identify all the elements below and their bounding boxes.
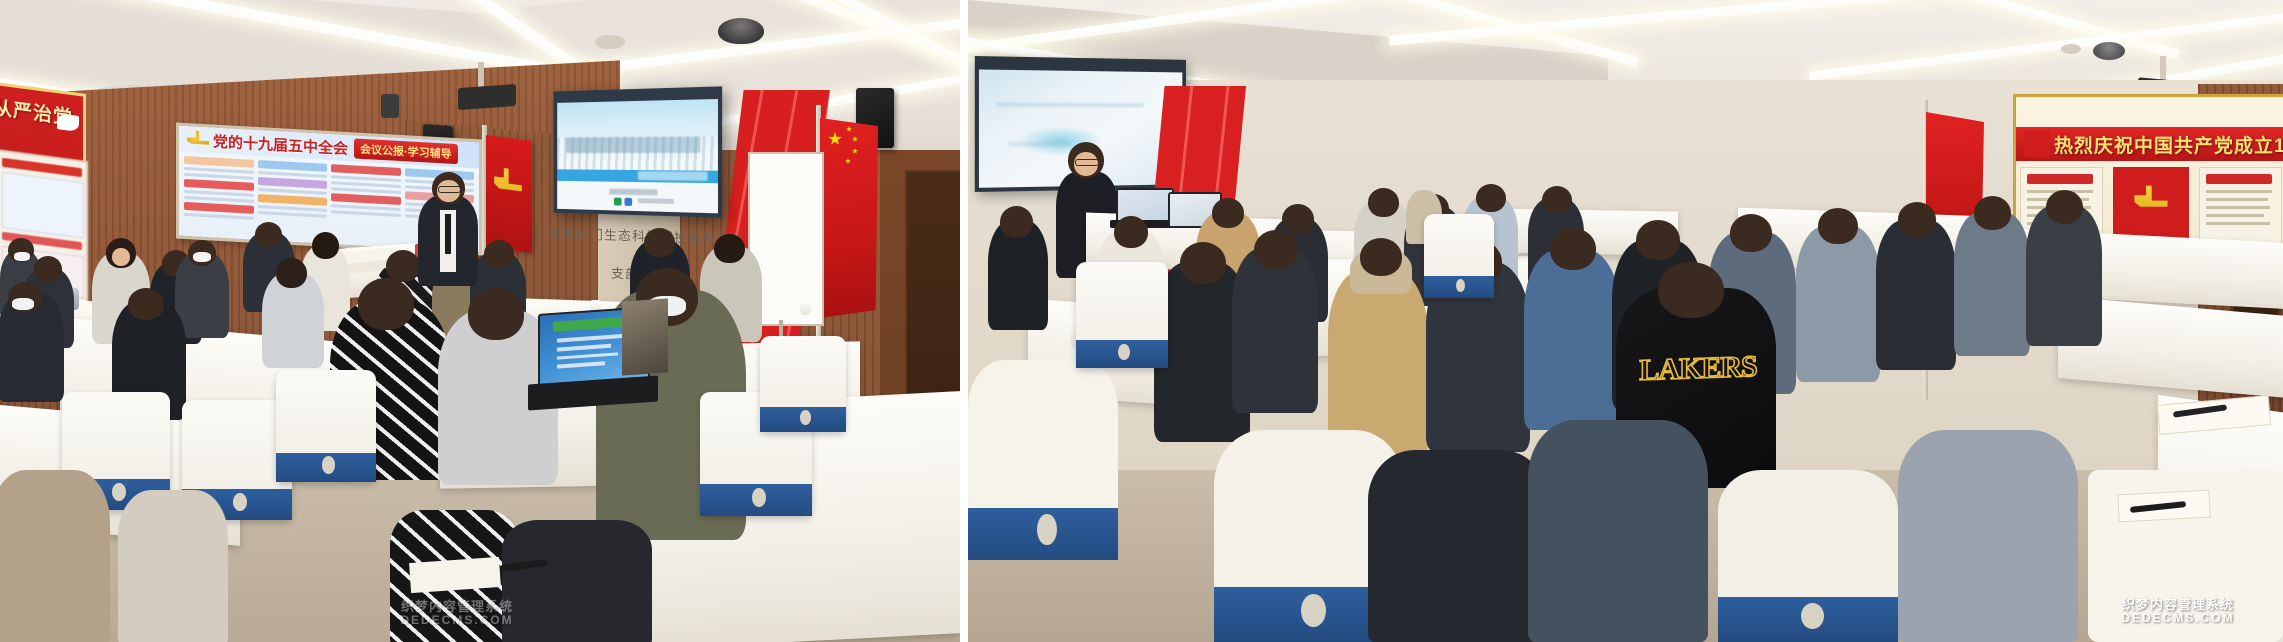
wall-banner-right-headline: 热烈庆祝中国共产党成立100周年	[2054, 131, 2283, 158]
party-emblem-icon	[187, 130, 209, 149]
slide-banner-bar	[557, 170, 718, 184]
person-head	[1974, 196, 2011, 230]
projection-screen	[554, 86, 722, 217]
chair[interactable]	[1424, 214, 1494, 298]
app-row	[557, 352, 617, 360]
wechat-icon	[614, 197, 622, 205]
camera-icon	[381, 94, 399, 118]
person	[0, 470, 110, 642]
chair[interactable]	[1718, 470, 1898, 642]
necktie	[445, 214, 451, 254]
person	[1232, 248, 1318, 413]
party-flag	[486, 135, 532, 253]
board-column	[184, 156, 254, 220]
left-photograph: 从严治党 党的十九届五中全会 会议公报·学习辅导	[0, 0, 960, 642]
face-mask	[12, 298, 34, 310]
chair[interactable]	[276, 370, 376, 482]
person-head	[1658, 262, 1724, 318]
person-head	[1636, 220, 1680, 260]
person-head	[358, 278, 414, 330]
dome-camera-icon	[718, 18, 764, 44]
person	[2026, 206, 2102, 346]
projector-icon	[458, 84, 516, 110]
person	[1954, 212, 2030, 356]
person-head	[2046, 190, 2083, 224]
star-icon	[828, 132, 842, 146]
chair-sash	[1076, 340, 1168, 368]
chair[interactable]	[1076, 262, 1168, 368]
person	[1876, 220, 1956, 370]
slide-subtitle-text	[638, 171, 708, 180]
person-head	[714, 234, 745, 263]
person-head	[1818, 208, 1858, 244]
board-column	[331, 164, 401, 228]
person-head	[1000, 206, 1033, 238]
cup	[800, 300, 811, 315]
banner-seal-icon	[2024, 131, 2050, 157]
chair-sash	[700, 484, 812, 516]
chair-sash	[760, 407, 846, 432]
person-face	[112, 248, 130, 266]
smoke-detector-icon	[2061, 44, 2081, 54]
app-row	[557, 362, 605, 369]
face-mask	[14, 252, 30, 261]
person-head	[1550, 228, 1596, 270]
person-head	[276, 258, 307, 288]
board-column	[258, 160, 328, 224]
poster-photo	[622, 298, 668, 375]
person	[502, 520, 652, 642]
projector-mount	[2160, 56, 2166, 82]
screenshot-root: 从严治党 党的十九届五中全会 会议公报·学习辅导	[0, 0, 2283, 642]
chair-sash	[276, 453, 376, 482]
person-head	[312, 232, 339, 259]
person-head	[1114, 216, 1148, 248]
person	[118, 490, 228, 642]
person-head	[1730, 214, 1772, 252]
app-icon	[625, 198, 633, 206]
person-denim	[1524, 250, 1620, 430]
eyeglasses-icon	[438, 186, 461, 193]
dove-icon	[57, 113, 79, 132]
panel-divider	[960, 0, 968, 642]
person-head	[1212, 198, 1244, 228]
person-head	[468, 288, 524, 340]
person-head	[128, 288, 164, 320]
projection-screen-surface	[557, 99, 718, 213]
person-head	[1180, 242, 1226, 284]
chair[interactable]	[968, 360, 1118, 560]
person-head	[1360, 238, 1402, 276]
wall-banner-right-headline-bar: 热烈庆祝中国共产党成立100周年	[2016, 127, 2283, 161]
slide-title-text	[566, 137, 701, 153]
person	[1528, 420, 1708, 642]
right-photograph: 热烈庆祝中国共产党成立100周年	[968, 0, 2283, 642]
chair-sash	[1718, 597, 1898, 642]
smoke-detector-icon	[595, 35, 625, 49]
slide-caption-text	[638, 198, 674, 204]
person-head	[1254, 230, 1298, 270]
hammer-sickle-icon	[2133, 185, 2169, 219]
person-head	[34, 256, 62, 282]
notebook	[409, 557, 501, 593]
national-flag	[820, 118, 878, 318]
chair[interactable]	[760, 336, 846, 432]
person-head	[255, 222, 282, 247]
eyeglasses-icon	[1075, 159, 1099, 166]
person-head	[1368, 188, 1399, 217]
person-head	[386, 250, 420, 282]
person-head	[1898, 202, 1936, 237]
person	[1368, 450, 1548, 642]
app-row	[557, 344, 611, 351]
wall-board-center-badge: 会议公报·学习辅导	[354, 138, 458, 164]
chair-sash	[1424, 276, 1494, 298]
person	[1898, 430, 2078, 642]
app-row	[557, 334, 624, 342]
dome-camera-icon	[2093, 42, 2125, 60]
person-head	[644, 228, 675, 257]
person-head	[1282, 204, 1314, 234]
slide-photo	[557, 99, 718, 171]
jacket-text: LAKERS	[1640, 350, 1756, 388]
person-head	[484, 240, 514, 268]
person-head	[1542, 186, 1572, 214]
slide-footer-text	[609, 189, 657, 195]
person-head	[1476, 184, 1506, 212]
hammer-sickle-icon	[493, 166, 523, 204]
face-mask	[193, 252, 211, 262]
person	[1796, 226, 1880, 382]
chair-sash	[968, 508, 1118, 560]
